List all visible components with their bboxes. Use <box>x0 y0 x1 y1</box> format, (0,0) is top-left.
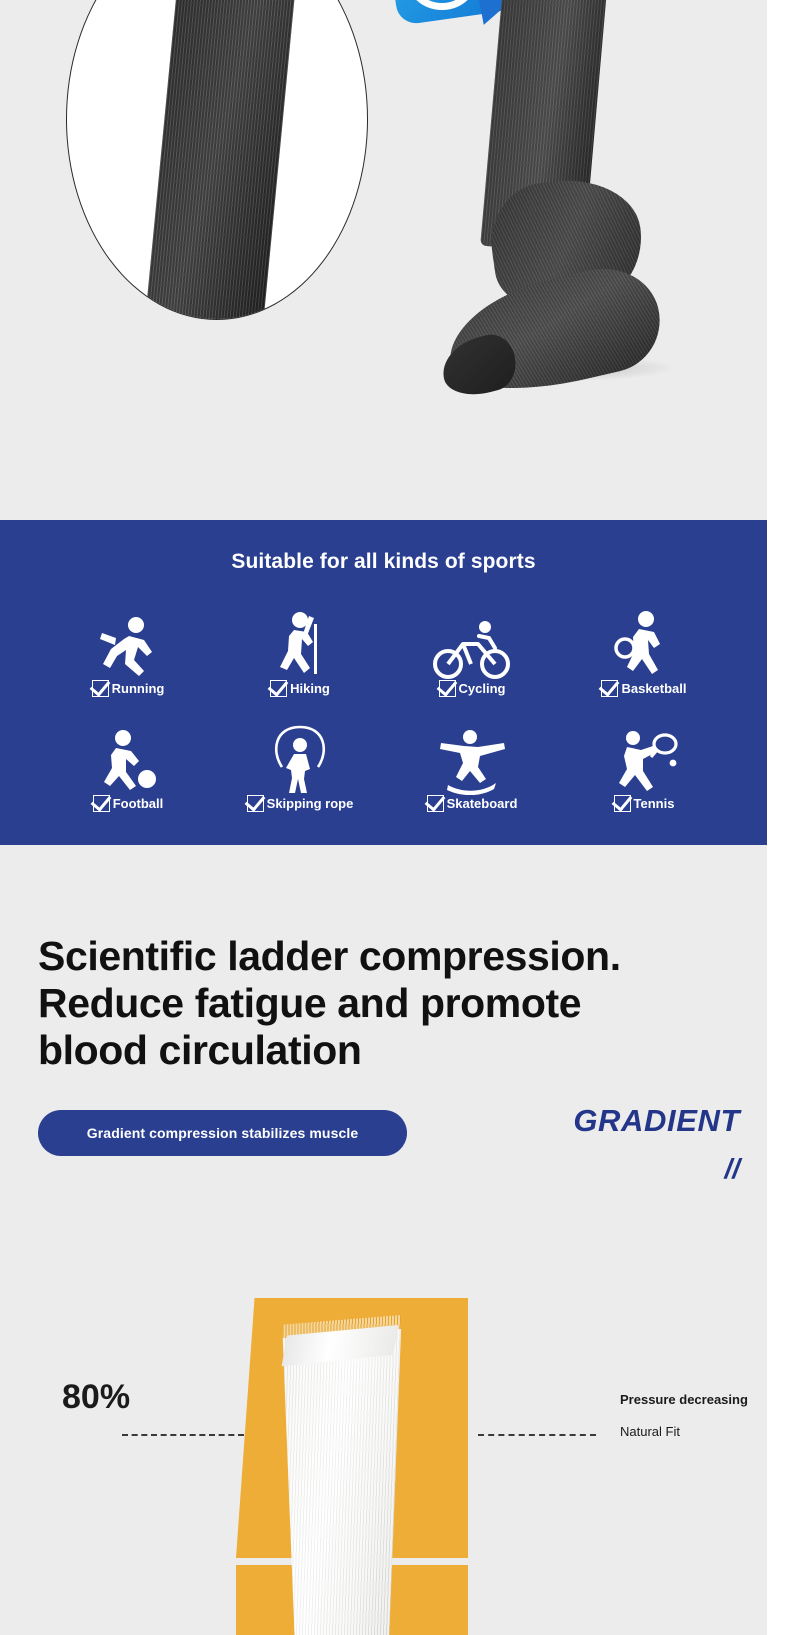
gradient-watermark: GRADIENT <box>470 1103 740 1139</box>
sports-row: Running Hiking <box>42 608 732 723</box>
product-photo-section <box>0 0 767 520</box>
cycling-icon <box>386 610 558 680</box>
product-sock-image <box>436 0 696 410</box>
sport-item-skipping-rope[interactable]: Skipping rope <box>214 723 386 838</box>
sport-label: Cycling <box>459 682 506 695</box>
sport-label: Tennis <box>634 797 675 810</box>
sport-label: Basketball <box>621 682 686 695</box>
sport-caption: Tennis <box>558 795 730 812</box>
gradient-compression-pill[interactable]: Gradient compression stabilizes muscle <box>38 1110 407 1156</box>
sport-caption: Basketball <box>558 680 730 697</box>
sport-label: Skateboard <box>447 797 518 810</box>
skateboard-icon <box>386 725 558 795</box>
running-icon <box>42 610 214 680</box>
sports-section-title: Suitable for all kinds of sports <box>0 550 767 574</box>
compression-diagram-section: 80% Pressure decreasing Natural Fit <box>0 1290 767 1635</box>
checkbox-icon[interactable] <box>93 795 110 812</box>
gradient-watermark-slash: // <box>470 1153 800 1185</box>
white-sock-image <box>262 1315 410 1635</box>
sport-caption: Skateboard <box>386 795 558 812</box>
sport-label: Running <box>112 682 165 695</box>
headline-section: Scientific ladder compression. Reduce fa… <box>0 845 767 1290</box>
football-icon <box>42 725 214 795</box>
checkbox-icon[interactable] <box>270 680 287 697</box>
tennis-icon <box>558 725 730 795</box>
sport-caption: Hiking <box>214 680 386 697</box>
knit-detail-magnifier <box>66 0 368 320</box>
pressure-decreasing-label: Pressure decreasing <box>620 1392 748 1407</box>
dashed-rule-right <box>478 1434 596 1436</box>
sport-caption: Cycling <box>386 680 558 697</box>
sport-label: Skipping rope <box>267 797 354 810</box>
checkbox-icon[interactable] <box>92 680 109 697</box>
natural-fit-label: Natural Fit <box>620 1424 680 1439</box>
checkbox-icon[interactable] <box>439 680 456 697</box>
skipping-rope-icon <box>214 725 386 795</box>
product-detail-page: Suitable for all kinds of sports Running <box>0 0 800 1635</box>
page-title: Scientific ladder compression. Reduce fa… <box>38 933 678 1074</box>
sports-grid: Running Hiking <box>42 608 732 838</box>
sport-item-running[interactable]: Running <box>42 608 214 723</box>
checkbox-icon[interactable] <box>601 680 618 697</box>
sport-item-basketball[interactable]: Basketball <box>558 608 730 723</box>
sports-row: Football Skipping rope <box>42 723 732 838</box>
hiking-icon <box>214 610 386 680</box>
compression-percentage: 80% <box>62 1378 130 1417</box>
sport-item-football[interactable]: Football <box>42 723 214 838</box>
checkbox-icon[interactable] <box>247 795 264 812</box>
magnified-knit-swatch <box>145 0 310 320</box>
pill-label: Gradient compression stabilizes muscle <box>87 1125 358 1141</box>
sport-item-cycling[interactable]: Cycling <box>386 608 558 723</box>
sport-caption: Football <box>42 795 214 812</box>
sport-item-tennis[interactable]: Tennis <box>558 723 730 838</box>
sport-item-hiking[interactable]: Hiking <box>214 608 386 723</box>
sport-caption: Skipping rope <box>214 795 386 812</box>
checkbox-icon[interactable] <box>614 795 631 812</box>
sport-label: Football <box>113 797 164 810</box>
checkbox-icon[interactable] <box>427 795 444 812</box>
dashed-rule-left <box>122 1434 244 1436</box>
basketball-icon <box>558 610 730 680</box>
sport-item-skateboard[interactable]: Skateboard <box>386 723 558 838</box>
sport-label: Hiking <box>290 682 330 695</box>
sport-caption: Running <box>42 680 214 697</box>
sports-section: Suitable for all kinds of sports Running <box>0 520 767 845</box>
